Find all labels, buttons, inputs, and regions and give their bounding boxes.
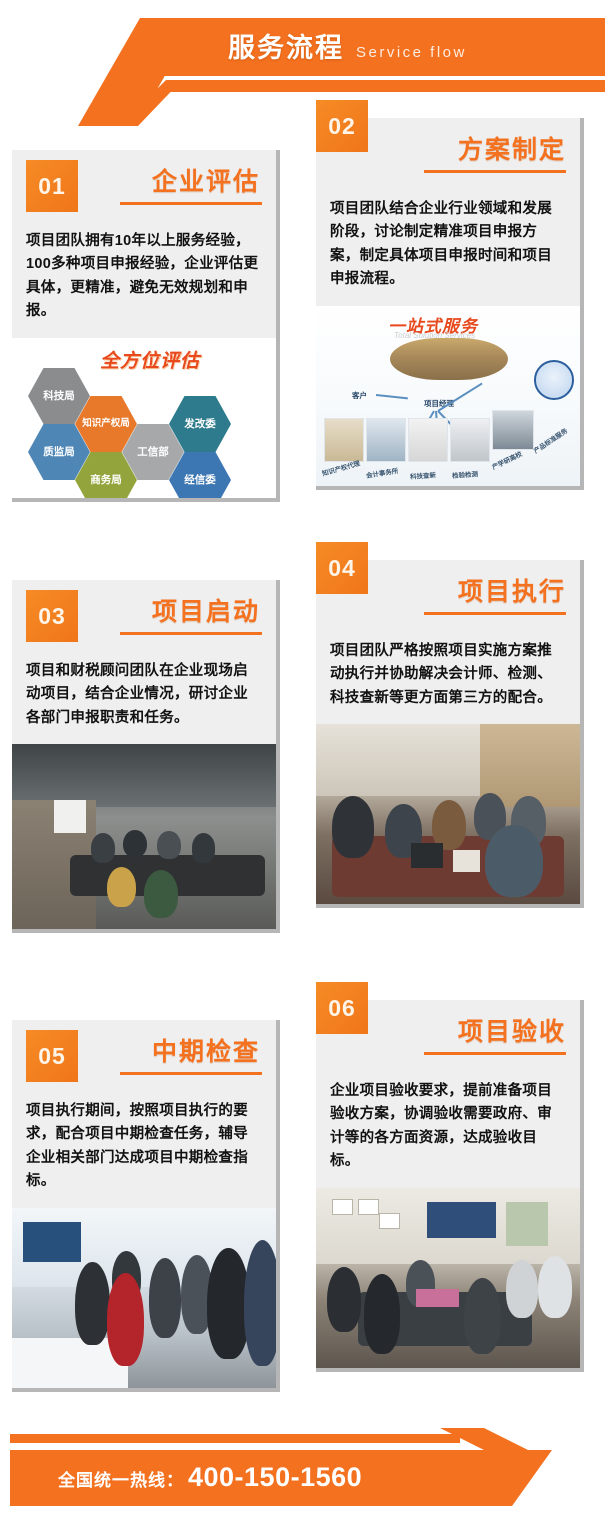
- card-panel: 05 中期检查 项目执行期间，按照项目执行的要求，配合项目中期检查任务，辅导企业…: [12, 1020, 280, 1392]
- card-title: 项目执行: [458, 572, 566, 608]
- footer-stripe: [10, 1434, 460, 1443]
- card-body-text: 项目和财税顾问团队在企业现场启动项目，结合企业情况，研讨企业各部门申报职责和任务…: [12, 654, 276, 744]
- card-panel: 03 项目启动 项目和财税顾问团队在企业现场启动项目，结合企业情况，研讨企业各部…: [12, 580, 280, 933]
- card-title: 中期检查: [152, 1032, 260, 1068]
- card-media-photo: [316, 724, 580, 904]
- label-inspection: 检验检测: [452, 468, 479, 480]
- card-title: 方案制定: [458, 130, 566, 166]
- label-product-standard: 产品标准服务: [531, 425, 569, 455]
- card-title: 企业评估: [152, 162, 260, 198]
- card-media-photo: [12, 1208, 276, 1388]
- page-header: 服务流程 Service flow: [0, 0, 605, 108]
- step-card-05[interactable]: 05 中期检查 项目执行期间，按照项目执行的要求，配合项目中期检查任务，辅导企业…: [12, 1020, 280, 1392]
- page-subtitle: Service flow: [356, 44, 467, 61]
- title-underline: [120, 1072, 262, 1075]
- label-tech-search: 科技查新: [410, 469, 437, 481]
- step-card-06[interactable]: 06 项目验收 企业项目验收要求，提前准备项目验收方案，协调验收需要政府、审计等…: [300, 1000, 584, 1372]
- card-panel: 01 企业评估 项目团队拥有10年以上服务经验，100多种项目申报经验，企业评估…: [12, 150, 280, 502]
- step-number-badge: 02: [316, 100, 368, 152]
- thumb-lab: [450, 418, 490, 462]
- hotline-group: 全国统一热线： 400-150-1560: [58, 1462, 362, 1493]
- meeting-photo-blob: [390, 338, 508, 380]
- step-number-badge: 05: [26, 1030, 78, 1082]
- header-stripe: [160, 80, 605, 92]
- step-card-04[interactable]: 04 项目执行 项目团队严格按照项目实施方案推动执行并协助解决会计师、检测、科技…: [300, 560, 584, 908]
- footer-band-diagonal: [450, 1450, 605, 1506]
- card-title: 项目启动: [152, 592, 260, 628]
- card-panel: 02 方案制定 项目团队结合企业行业领域和发展阶段，讨论制定精准项目申报方案，制…: [316, 118, 584, 490]
- label-university: 产学研高校: [490, 448, 524, 471]
- node-customer: 客户: [352, 390, 367, 401]
- hotline-number[interactable]: 400-150-1560: [188, 1462, 362, 1493]
- header-title-group: 服务流程 Service flow: [228, 26, 467, 65]
- hotline-label: 全国统一热线：: [58, 1466, 184, 1491]
- title-underline: [120, 632, 262, 635]
- step-number-badge: 04: [316, 542, 368, 594]
- title-underline: [424, 1052, 566, 1055]
- card-body-text: 项目团队结合企业行业领域和发展阶段，讨论制定精准项目申报方案，制定具体项目申报时…: [316, 192, 580, 306]
- title-underline: [424, 612, 566, 615]
- title-underline: [120, 202, 262, 205]
- step-card-03[interactable]: 03 项目启动 项目和财税顾问团队在企业现场启动项目，结合企业情况，研讨企业各部…: [12, 580, 280, 933]
- card-media-service-diagram: 一站式服务 Total Solution Services 客户 项目经理: [316, 306, 580, 486]
- page-title: 服务流程: [228, 26, 344, 65]
- card-media-hexagon-diagram: 全方位评估 科技局 质监局 知识产权局 商务局 工信部 发改委 经信委: [12, 338, 276, 498]
- card-panel: 04 项目执行 项目团队严格按照项目实施方案推动执行并协助解决会计师、检测、科技…: [316, 560, 584, 908]
- step-number-badge: 03: [26, 590, 78, 642]
- thumb-documents: [408, 418, 448, 462]
- card-media-photo: [316, 1188, 580, 1368]
- diagram-title: 全方位评估: [100, 346, 200, 373]
- thumb-university: [492, 410, 534, 450]
- card-body-text: 项目团队拥有10年以上服务经验，100多种项目申报经验，企业评估更具体，更精准，…: [12, 224, 276, 338]
- thumb-books: [324, 418, 364, 462]
- title-underline: [424, 170, 566, 173]
- label-accounting: 会计事务所: [365, 465, 399, 480]
- arrow-1: [376, 394, 408, 399]
- step-card-02[interactable]: 02 方案制定 项目团队结合企业行业领域和发展阶段，讨论制定精准项目申报方案，制…: [300, 118, 584, 490]
- card-title: 项目验收: [458, 1012, 566, 1048]
- card-media-photo: [12, 744, 276, 929]
- thumb-office: [366, 418, 406, 462]
- card-body-text: 项目团队严格按照项目实施方案推动执行并协助解决会计师、检测、科技查新等更方面第三…: [316, 634, 580, 724]
- service-flow-infographic: 服务流程 Service flow 01 企业评估 项目团队拥有10年以上服务经…: [0, 0, 605, 1538]
- card-body-text: 企业项目验收要求，提前准备项目验收方案，协调验收需要政府、审计等的各方面资源，达…: [316, 1074, 580, 1188]
- card-panel: 06 项目验收 企业项目验收要求，提前准备项目验收方案，协调验收需要政府、审计等…: [316, 1000, 584, 1372]
- card-body-text: 项目执行期间，按照项目执行的要求，配合项目中期检查任务，辅导企业相关部门达成项目…: [12, 1094, 276, 1208]
- step-number-badge: 01: [26, 160, 78, 212]
- step-card-01[interactable]: 01 企业评估 项目团队拥有10年以上服务经验，100多种项目申报经验，企业评估…: [12, 150, 280, 502]
- step-number-badge: 06: [316, 982, 368, 1034]
- certification-seal-icon: [534, 360, 574, 400]
